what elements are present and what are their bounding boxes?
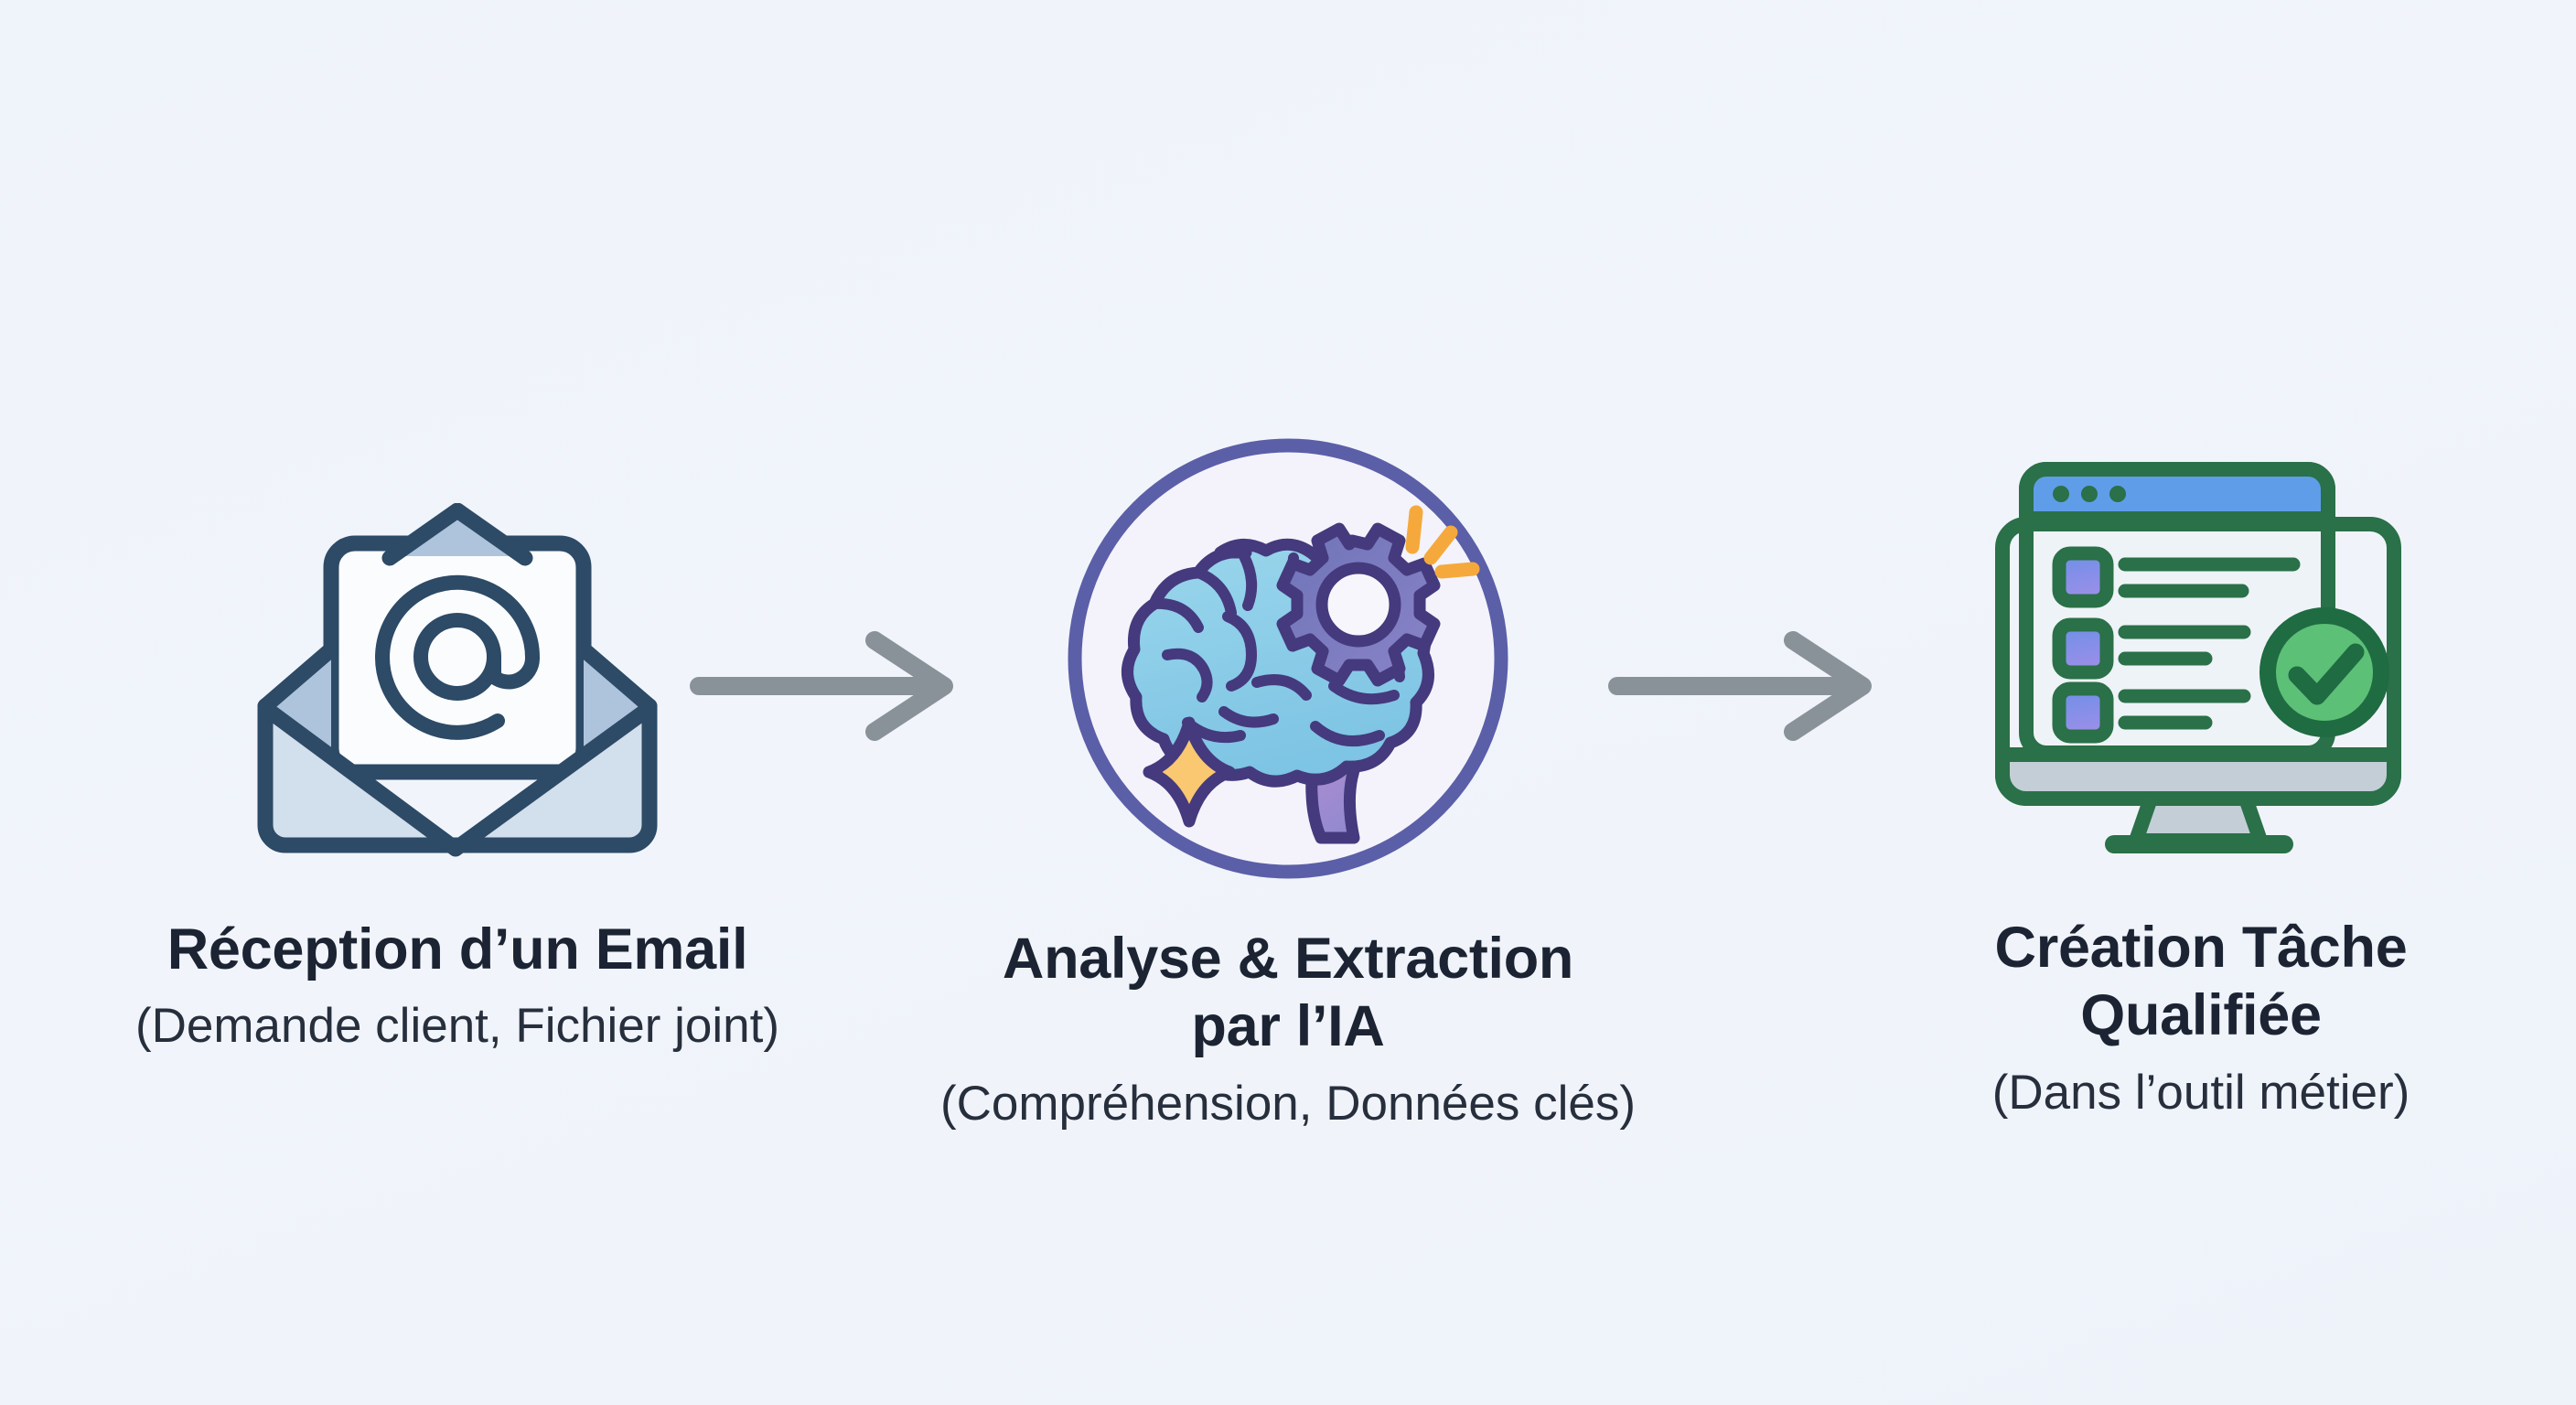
step-email-icon-wrap xyxy=(247,494,668,878)
checkbox-item xyxy=(2059,625,2107,672)
step-email-subtitle: (Demande client, Fichier joint) xyxy=(135,997,779,1056)
window-dots-icon xyxy=(2053,486,2126,502)
process-flow-diagram: Réception d’un Email (Demande client, Fi… xyxy=(0,0,2576,1405)
step-task-icon-wrap xyxy=(1986,439,2416,878)
check-circle-icon xyxy=(2268,616,2381,729)
checkbox-item xyxy=(2059,553,2107,601)
step-ai-icon-wrap xyxy=(1050,430,1526,887)
step-email-title: Réception d’un Email xyxy=(167,917,748,984)
flow-step-task: Création Tâche Qualifiée (Dans l’outil m… xyxy=(1744,439,2576,1122)
open-envelope-at-icon xyxy=(247,503,668,869)
step-ai-title: Analyse & Extraction par l’IA xyxy=(1003,926,1573,1060)
monitor-checklist-icon xyxy=(1986,453,2416,864)
checkbox-item xyxy=(2059,689,2107,736)
step-task-title: Création Tâche Qualifiée xyxy=(1995,915,2408,1049)
flow-step-email: Réception d’un Email (Demande client, Fi… xyxy=(0,494,915,1055)
step-task-subtitle: (Dans l’outil métier) xyxy=(1992,1064,2410,1122)
ai-brain-gear-icon xyxy=(1050,421,1526,896)
flow-step-ai: Analyse & Extraction par l’IA (Compréhen… xyxy=(831,430,1745,1133)
step-ai-subtitle: (Compréhension, Données clés) xyxy=(940,1075,1636,1133)
